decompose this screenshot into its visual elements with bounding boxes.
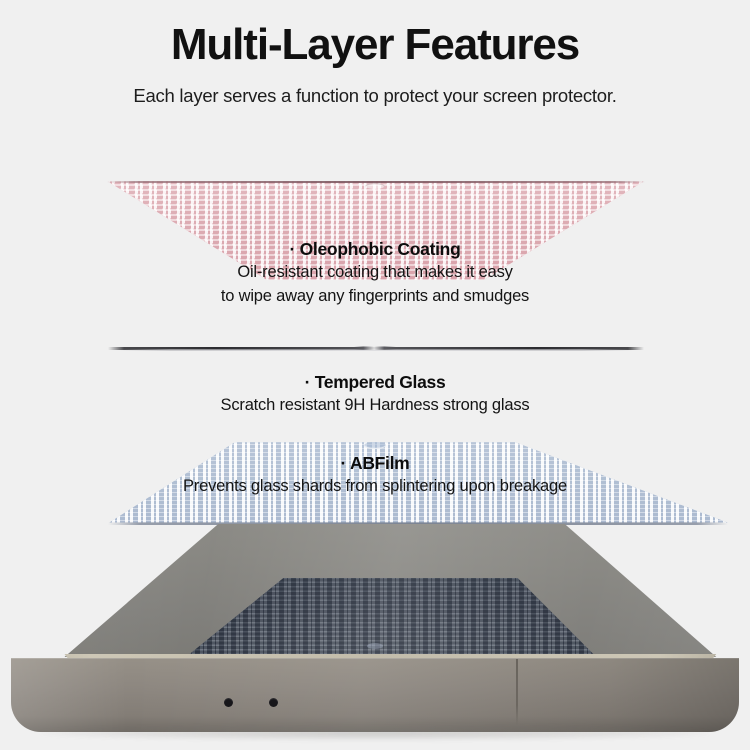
layer-desc-oleophobic-line-2: to wipe away any fingerprints and smudge… — [0, 284, 750, 308]
abfilm-plane — [0, 441, 750, 525]
phone-antenna-seam — [516, 659, 518, 725]
smartphone-illustration — [0, 520, 750, 750]
phone-microphone-hole-icon — [224, 698, 233, 707]
phone-front-edge — [11, 658, 739, 732]
camera-cutout-icon — [366, 183, 385, 189]
multi-layer-features-page: Multi-Layer Features Each layer serves a… — [0, 0, 750, 750]
abfilm-camera-cutout-icon — [364, 442, 386, 449]
phone-speaker-hole-icon — [269, 698, 278, 707]
phone-top-face-sheen — [0, 524, 750, 657]
tempered-glass-notch-icon — [354, 346, 396, 350]
oleophobic-coating-plane — [0, 180, 750, 282]
layer-desc-tempered-glass-line-1: Scratch resistant 9H Hardness strong gla… — [0, 393, 750, 417]
phone-drop-shadow — [40, 726, 710, 740]
layer-tempered-glass — [0, 345, 750, 353]
layer-abfilm — [0, 441, 750, 525]
layer-title-tempered-glass: · Tempered Glass — [0, 371, 750, 393]
label-tempered-glass: · Tempered Glass Scratch resistant 9H Ha… — [0, 371, 750, 417]
layer-oleophobic-coating — [0, 180, 750, 282]
